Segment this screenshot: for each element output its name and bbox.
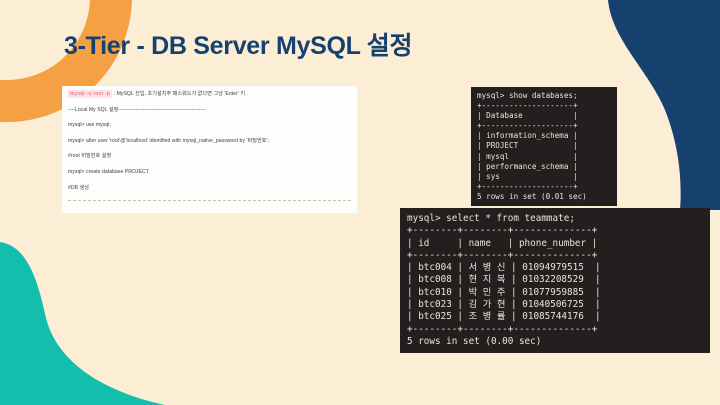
tm-footer-line: 5 rows in set (0.00 sec): [407, 336, 541, 347]
tm-name-2: 박 민 주: [469, 287, 506, 298]
tm-phone-1: 01032208529: [522, 274, 584, 285]
table-row: | btc025 | 조 병 률 | 01085744176 |: [407, 311, 601, 322]
terminal-select-teammate: mysql> select * from teammate; +--------…: [400, 208, 710, 353]
db-row-1: | PROJECT |: [477, 141, 578, 150]
tm-name-4: 조 병 률: [469, 311, 506, 322]
db-border-mid: +--------------------+: [477, 121, 578, 130]
table-row: | btc023 | 김 가 현 | 01040506725 |: [407, 299, 601, 310]
note-line-7: #DB 생성: [68, 186, 351, 191]
table-row: | btc008 | 현 지 복 | 01032208529 |: [407, 274, 601, 285]
tm-name-3: 김 가 현: [469, 299, 506, 310]
note-line-6: mysql> create database PROJECT: [68, 170, 351, 175]
tm-id-2: btc010: [418, 287, 452, 298]
db-row-0: | information_schema |: [477, 131, 578, 140]
terminal-show-databases: mysql> show databases; +----------------…: [471, 87, 617, 206]
note-divider: [68, 200, 351, 201]
page-title: 3-Tier - DB Server MySQL 설정: [64, 26, 412, 62]
tm-phone-2: 01077959885: [522, 287, 584, 298]
note-line-1-text: : MySQL 진입, 초기설치주 패스워드가 없다면 그냥 'Enter' 키: [112, 91, 245, 97]
note-line-2: ----Local My SQL 설정---------------------…: [68, 108, 351, 113]
tm-border-top: +--------+--------+--------------+: [407, 225, 597, 236]
tm-phone-3: 01040506725: [522, 299, 584, 310]
tm-phone-0: 01094979515: [522, 262, 584, 273]
db-footer-line: 5 rows in set (0.01 sec): [477, 192, 587, 201]
tm-id-4: btc025: [418, 311, 452, 322]
tm-name-1: 현 지 복: [469, 274, 506, 285]
db-header-row: | Database |: [477, 111, 578, 120]
db-row-3: | performance_schema |: [477, 162, 578, 171]
table-row: | btc004 | 서 병 신 | 01094979515 |: [407, 262, 601, 273]
note-line-3: mysql> use mysql;: [68, 123, 351, 128]
tm-name-0: 서 병 신: [469, 262, 506, 273]
db-border-top: +--------------------+: [477, 101, 578, 110]
tm-header-row: | id | name | phone_number |: [407, 238, 597, 249]
tm-id-0: btc004: [418, 262, 452, 273]
tm-border-bottom: +--------+--------+--------------+: [407, 324, 597, 335]
slide: 3-Tier - DB Server MySQL 설정 mysql -u roo…: [0, 0, 720, 405]
note-line-1: mysql -u root -p : MySQL 진입, 초기설치주 패스워드가…: [68, 92, 351, 97]
note-line-5: #root 비밀번호 설정: [68, 154, 351, 159]
mysql-login-command: mysql -u root -p: [68, 90, 112, 98]
note-line-4: mysql> alter user 'root'@'localhost' ide…: [68, 139, 351, 144]
db-prompt-line: mysql> show databases;: [477, 91, 578, 100]
tm-id-3: btc023: [418, 299, 452, 310]
db-row-4: | sys |: [477, 172, 578, 181]
tm-prompt-line: mysql> select * from teammate;: [407, 213, 575, 224]
table-row: | btc010 | 박 민 주 | 01077959885 |: [407, 287, 601, 298]
mysql-notes-panel: mysql -u root -p : MySQL 진입, 초기설치주 패스워드가…: [62, 86, 357, 213]
db-row-2: | mysql |: [477, 152, 578, 161]
tm-phone-4: 01085744176: [522, 311, 584, 322]
db-border-bottom: +--------------------+: [477, 182, 578, 191]
teal-curve-decoration: [0, 230, 165, 405]
tm-border-mid: +--------+--------+--------------+: [407, 250, 597, 261]
tm-id-1: btc008: [418, 274, 452, 285]
